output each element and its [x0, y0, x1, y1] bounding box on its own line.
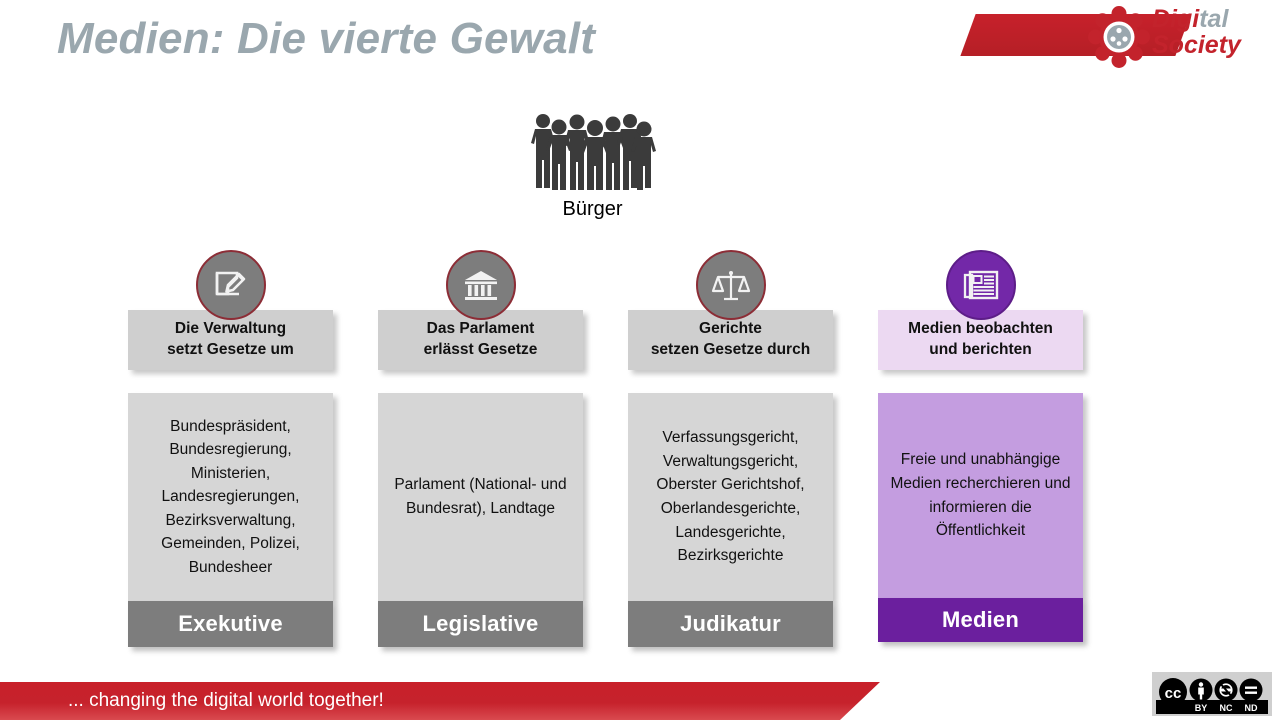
newspaper-icon: [946, 250, 1016, 320]
parliament-building-icon: [446, 250, 516, 320]
logo-text-line1a: Digi: [1152, 5, 1199, 33]
slide-canvas: Medien: Die vierte Gewalt: [0, 0, 1280, 720]
header-line-1: Gerichte: [699, 320, 762, 337]
branch-footer-judikatur: Judikatur: [628, 601, 833, 647]
header-line-1: Das Parlament: [427, 320, 535, 337]
header-line-2: setzt Gesetze um: [167, 341, 294, 358]
branch-footer-medien: Medien: [878, 598, 1083, 642]
branch-footer-legislative: Legislative: [378, 601, 583, 647]
branch-body-medien: Freie und unabhängige Medien recherchier…: [878, 393, 1083, 598]
brand-logo: Digital Society: [980, 0, 1280, 78]
header-line-2: und berichten: [929, 341, 1031, 358]
svg-text:NC: NC: [1220, 703, 1233, 713]
logo-wordmark: Digital Society: [1152, 6, 1241, 58]
svg-text:BY: BY: [1195, 703, 1208, 713]
page-title: Medien: Die vierte Gewalt: [57, 14, 595, 64]
people-group-silhouette-icon: [525, 108, 657, 190]
header-line-1: Die Verwaltung: [175, 320, 286, 337]
branch-body-legislative: Parlament (National- und Bundesrat), Lan…: [378, 393, 583, 601]
justice-scales-icon: [696, 250, 766, 320]
branch-body-exekutive: Bundespräsident, Bundesregierung, Minist…: [128, 393, 333, 601]
header-line-1: Medien beobachten: [908, 320, 1053, 337]
creative-commons-by-nc-nd-badge-icon[interactable]: cc BYNCND: [1152, 672, 1272, 716]
svg-text:ND: ND: [1245, 703, 1258, 713]
citizens-label: Bürger: [465, 198, 720, 221]
branch-footer-exekutive: Exekutive: [128, 601, 333, 647]
footer-tagline: ... changing the digital world together!: [68, 690, 384, 712]
branch-body-judikatur: Verfassungsgericht, Verwaltungsgericht, …: [628, 393, 833, 601]
header-line-2: erlässt Gesetze: [424, 341, 538, 358]
logo-text-line2: Society: [1152, 32, 1241, 58]
digital-society-flower-logo-icon: [1088, 6, 1150, 68]
svg-text:cc: cc: [1165, 685, 1182, 702]
header-line-2: setzen Gesetze durch: [651, 341, 810, 358]
document-pencil-icon: [196, 250, 266, 320]
logo-text-line1b: tal: [1199, 5, 1228, 33]
